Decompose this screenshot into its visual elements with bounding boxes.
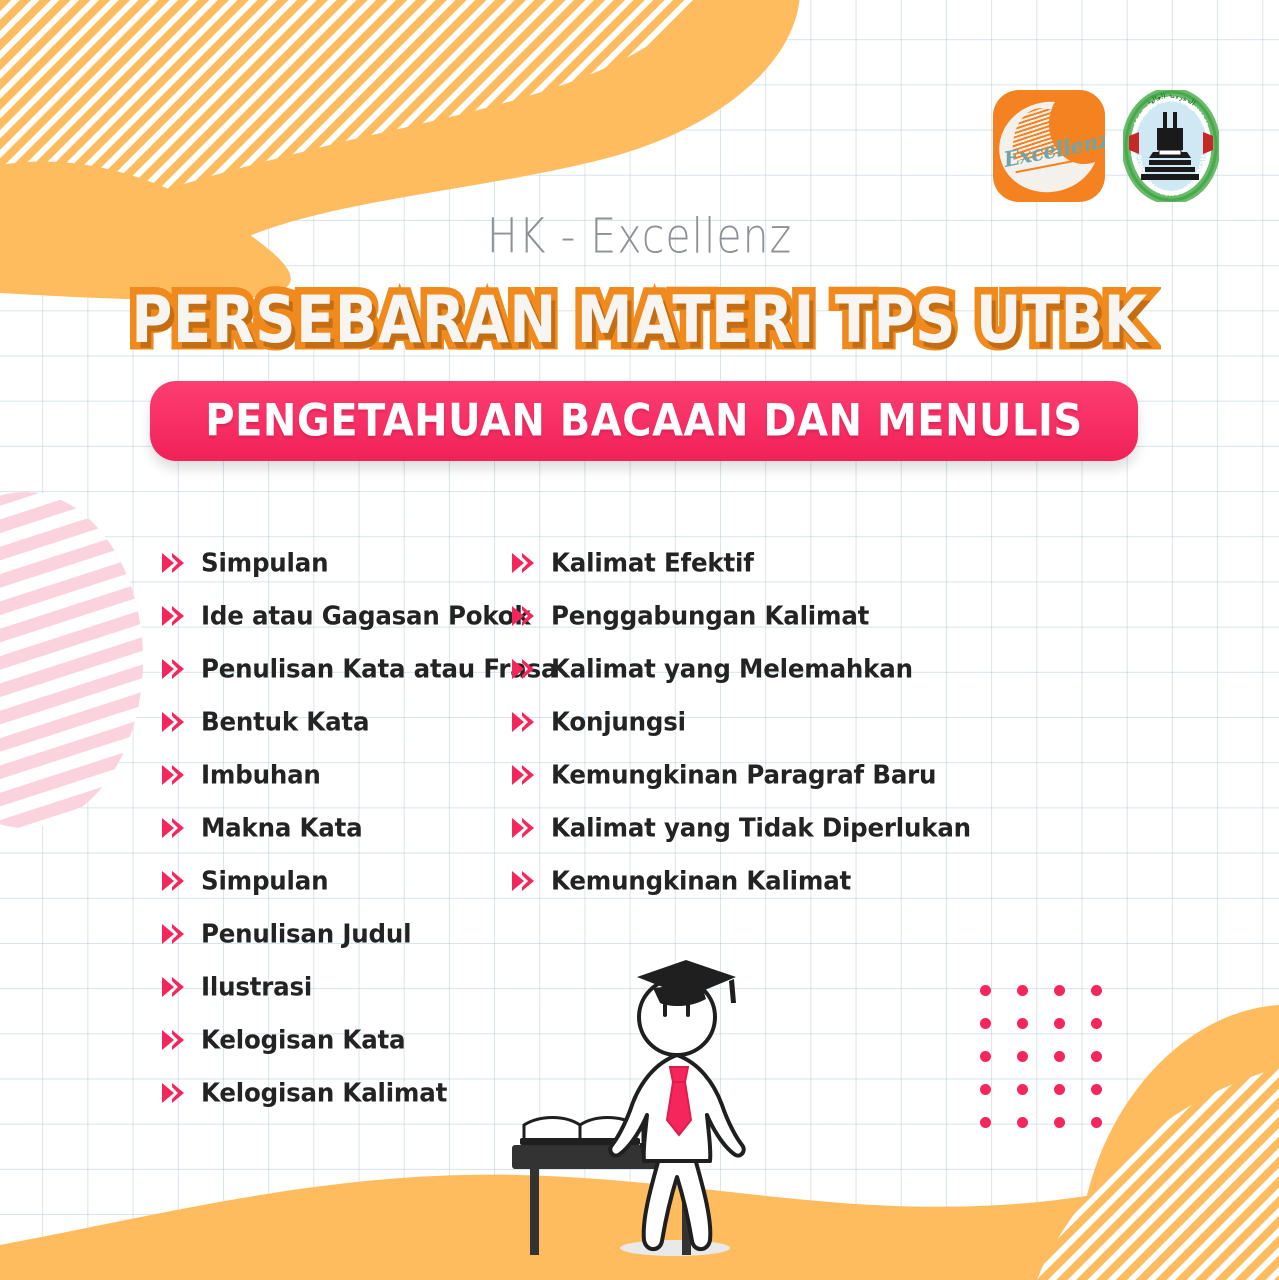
list-item[interactable]: Simpulan — [160, 854, 500, 907]
list-item-label: Imbuhan — [201, 759, 321, 790]
dot — [1091, 1084, 1102, 1095]
logo-group: Excellenz School of Education المدرسة ال… — [993, 90, 1219, 202]
poster-canvas: Excellenz School of Education المدرسة ال… — [0, 0, 1279, 1280]
list-item[interactable]: Penggabungan Kalimat — [510, 589, 1140, 642]
list-item[interactable]: Kelogisan Kalimat — [160, 1066, 500, 1119]
list-item[interactable]: Ide atau Gagasan Pokok — [160, 589, 500, 642]
double-chevron-icon — [510, 656, 536, 682]
subtitle-banner-text: PENGETAHUAN BACAAN DAN MENULIS — [205, 395, 1082, 447]
dot — [1091, 1051, 1102, 1062]
dot — [1054, 1051, 1065, 1062]
double-chevron-icon — [160, 603, 186, 629]
list-item-label: Bentuk Kata — [201, 706, 369, 737]
double-chevron-icon — [510, 603, 536, 629]
list-item[interactable]: Kemungkinan Paragraf Baru — [510, 748, 1140, 801]
topic-list-left: Simpulan Ide atau Gagasan Pokok Penulisa… — [0, 536, 500, 1119]
double-chevron-icon — [160, 974, 186, 1000]
list-item-label: Penulisan Kata atau Frasa — [201, 653, 557, 684]
dot — [980, 1084, 991, 1095]
list-item-label: Ilustrasi — [201, 971, 312, 1002]
dot — [980, 1051, 991, 1062]
brand-handwriting-line: HK - Excellenz — [0, 208, 1279, 265]
double-chevron-icon — [160, 709, 186, 735]
list-item[interactable]: Konjungsi — [510, 695, 1140, 748]
list-item[interactable]: Penulisan Kata atau Frasa — [160, 642, 500, 695]
dot — [1017, 1117, 1028, 1128]
double-chevron-icon — [160, 656, 186, 682]
double-chevron-icon — [160, 1027, 186, 1053]
list-item-label: Penggabungan Kalimat — [551, 600, 869, 631]
list-item-label: Kemungkinan Paragraf Baru — [551, 759, 936, 790]
list-item[interactable]: Makna Kata — [160, 801, 500, 854]
pink-dot-grid — [980, 985, 1128, 1150]
double-chevron-icon — [160, 868, 186, 894]
list-item[interactable]: Kemungkinan Kalimat — [510, 854, 1140, 907]
list-item-label: Simpulan — [201, 547, 328, 578]
list-item-label: Kalimat yang Melemahkan — [551, 653, 913, 684]
excellenz-logo: Excellenz School of Education — [993, 90, 1105, 202]
dot — [1054, 1018, 1065, 1029]
double-chevron-icon — [160, 815, 186, 841]
double-chevron-icon — [510, 815, 536, 841]
double-chevron-icon — [160, 762, 186, 788]
dot — [1054, 1117, 1065, 1128]
dot — [1091, 1018, 1102, 1029]
dot — [1017, 1051, 1028, 1062]
list-item[interactable]: Penulisan Judul — [160, 907, 500, 960]
dot — [1091, 985, 1102, 996]
page-title-text: PERSEBARAN MATERI TPS UTBK — [131, 283, 1147, 358]
list-item-label: Kalimat yang Tidak Diperlukan — [551, 812, 971, 843]
dot — [980, 985, 991, 996]
dot — [980, 1018, 991, 1029]
list-item[interactable]: Kalimat yang Tidak Diperlukan — [510, 801, 1140, 854]
page-title: PERSEBARAN MATERI TPS UTBK — [0, 288, 1279, 353]
list-item-label: Konjungsi — [551, 706, 686, 737]
list-item[interactable]: Simpulan — [160, 536, 500, 589]
list-item-label: Penulisan Judul — [201, 918, 411, 949]
dot — [980, 1117, 991, 1128]
list-item[interactable]: Imbuhan — [160, 748, 500, 801]
dot — [1017, 1084, 1028, 1095]
subtitle-banner: PENGETAHUAN BACAAN DAN MENULIS — [150, 381, 1138, 461]
list-item[interactable]: Kalimat yang Melemahkan — [510, 642, 1140, 695]
list-item-label: Kelogisan Kalimat — [201, 1077, 447, 1108]
dot — [1017, 985, 1028, 996]
graduate-illustration — [510, 955, 830, 1265]
list-item-label: Kelogisan Kata — [201, 1024, 405, 1055]
list-item-label: Kemungkinan Kalimat — [551, 865, 851, 896]
double-chevron-icon — [160, 921, 186, 947]
figure-shadow — [620, 1240, 730, 1256]
list-item[interactable]: Ilustrasi — [160, 960, 500, 1013]
list-item-label: Simpulan — [201, 865, 328, 896]
list-item[interactable]: Bentuk Kata — [160, 695, 500, 748]
list-item-label: Makna Kata — [201, 812, 362, 843]
list-item[interactable]: Kalimat Efektif — [510, 536, 1140, 589]
list-item-label: Ide atau Gagasan Pokok — [201, 600, 531, 631]
double-chevron-icon — [510, 762, 536, 788]
dot — [1091, 1117, 1102, 1128]
dot — [1054, 1084, 1065, 1095]
list-item[interactable]: Kelogisan Kata — [160, 1013, 500, 1066]
double-chevron-icon — [510, 868, 536, 894]
dot — [1054, 985, 1065, 996]
dot — [1017, 1018, 1028, 1029]
double-chevron-icon — [510, 709, 536, 735]
double-chevron-icon — [160, 550, 186, 576]
double-chevron-icon — [510, 550, 536, 576]
list-item-label: Kalimat Efektif — [551, 547, 754, 578]
double-chevron-icon — [160, 1080, 186, 1106]
madrasah-aliyah-seal-logo: المدرسة العالية MADRASAH ALIYAH PONTREN … — [1123, 90, 1219, 202]
